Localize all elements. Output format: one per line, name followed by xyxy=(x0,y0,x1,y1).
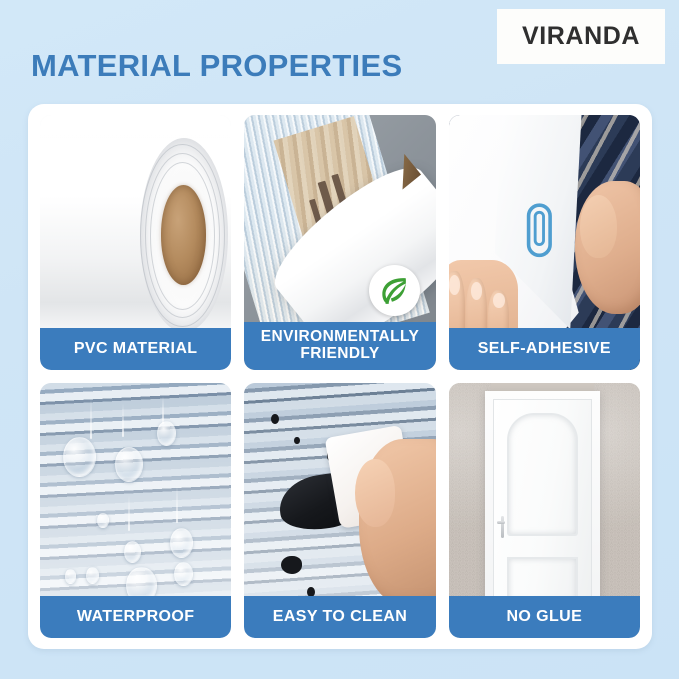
handle-plate xyxy=(501,516,504,539)
feature-tile-easy-to-clean[interactable]: EASY TO CLEAN xyxy=(244,383,435,638)
feature-label-pvc-material: PVC MATERIAL xyxy=(40,328,231,370)
door-leaf xyxy=(493,399,592,607)
stain-spot xyxy=(271,414,279,424)
water-streak xyxy=(90,398,92,439)
feature-tile-environmentally-friendly[interactable]: ENVIRONMENTALLY FRIENDLY xyxy=(244,115,435,370)
water-streak xyxy=(122,403,124,436)
feature-label-self-adhesive: SELF-ADHESIVE xyxy=(449,328,640,370)
stain-spot xyxy=(294,437,300,445)
fingernail xyxy=(449,275,461,295)
feature-label-easy-to-clean: EASY TO CLEAN xyxy=(244,596,435,638)
stain-spot xyxy=(281,556,302,574)
finger xyxy=(580,195,617,259)
feature-label-environmentally-friendly: ENVIRONMENTALLY FRIENDLY xyxy=(244,322,435,370)
feature-tile-self-adhesive[interactable]: SELF-ADHESIVE xyxy=(449,115,640,370)
brand-name: VIRANDA xyxy=(522,22,640,51)
door-handle xyxy=(497,516,509,539)
feature-tile-pvc-material[interactable]: PVC MATERIAL xyxy=(40,115,231,370)
water-streak xyxy=(128,495,130,531)
water-droplet xyxy=(115,447,144,482)
feature-label-no-glue: NO GLUE xyxy=(449,596,640,638)
thumb xyxy=(355,459,395,526)
door-frame xyxy=(485,391,600,608)
fingernail xyxy=(471,282,483,300)
water-streak xyxy=(176,485,178,523)
infographic-page: VIRANDA MATERIAL PROPERTIES PVC MATERIAL xyxy=(0,0,679,679)
eco-roll-tip xyxy=(386,154,422,190)
pvc-roll-core xyxy=(161,185,207,284)
paperclip-icon xyxy=(525,192,554,269)
brand-badge: VIRANDA xyxy=(497,9,665,64)
feature-grid: PVC MATERIAL xyxy=(40,115,640,638)
page-title: MATERIAL PROPERTIES xyxy=(31,48,402,84)
water-droplet xyxy=(157,421,176,446)
pvc-roll-highlight xyxy=(40,156,159,212)
water-droplet xyxy=(63,437,96,477)
handle-lever xyxy=(497,521,505,524)
feature-card: PVC MATERIAL xyxy=(28,104,652,649)
feature-tile-waterproof[interactable]: WATERPROOF xyxy=(40,383,231,638)
feature-label-waterproof: WATERPROOF xyxy=(40,596,231,638)
feature-tile-no-glue[interactable]: NO GLUE xyxy=(449,383,640,638)
door-panel-upper xyxy=(507,413,579,537)
fingernail xyxy=(493,293,505,308)
wall-right xyxy=(594,383,640,607)
water-droplet xyxy=(97,513,109,528)
